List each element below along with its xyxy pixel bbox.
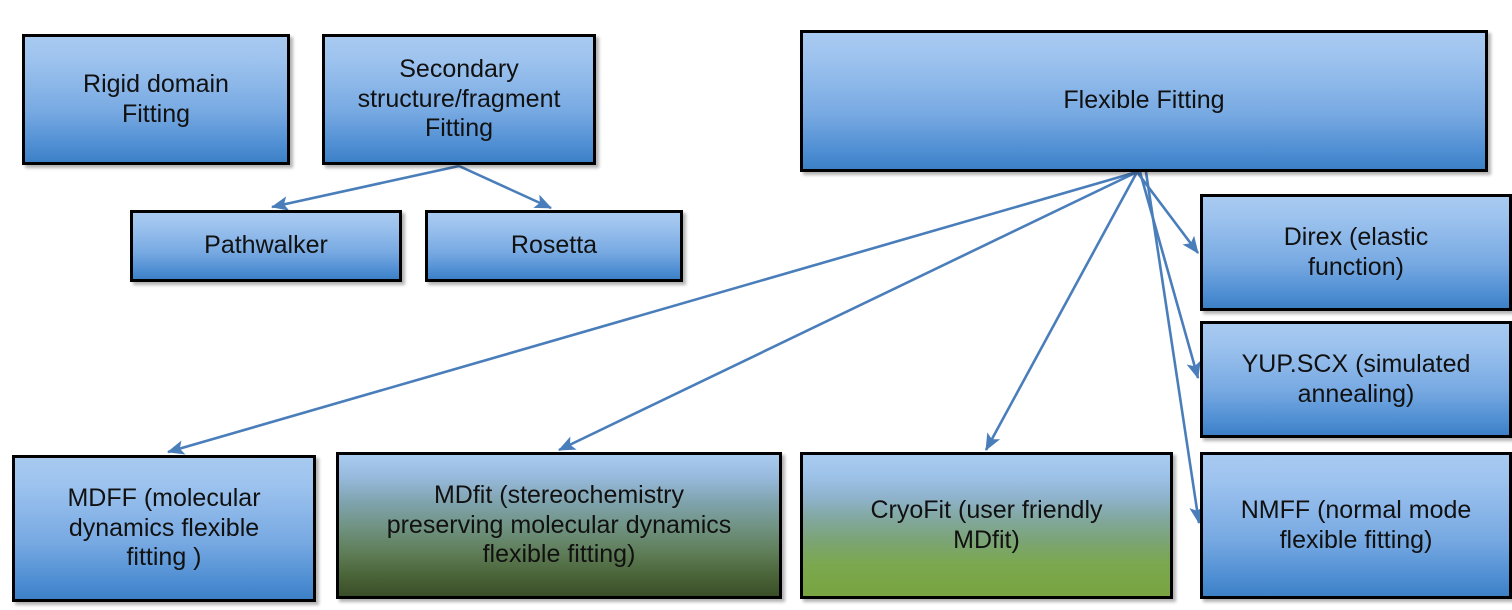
node-direx[interactable]: Direx (elastic function) bbox=[1200, 194, 1512, 311]
diagram-canvas: Rigid domain FittingSecondary structure/… bbox=[0, 0, 1512, 610]
node-label-mdfit: MDfit (stereochemistry preserving molecu… bbox=[349, 481, 769, 570]
node-label-pathwalker: Pathwalker bbox=[143, 231, 389, 261]
node-mdfit[interactable]: MDfit (stereochemistry preserving molecu… bbox=[336, 452, 782, 599]
node-label-nmff: NMFF (normal mode flexible fitting) bbox=[1213, 496, 1499, 555]
edge-secondary-to-pathwalker bbox=[272, 166, 459, 207]
node-label-rosetta: Rosetta bbox=[438, 231, 670, 261]
edge-flexible-to-direx bbox=[1137, 172, 1198, 253]
node-nmff[interactable]: NMFF (normal mode flexible fitting) bbox=[1200, 452, 1512, 599]
node-rigid-domain-fitting[interactable]: Rigid domain Fitting bbox=[22, 34, 290, 165]
edge-flexible-to-cryofit bbox=[986, 172, 1137, 450]
edge-flexible-to-yupscx bbox=[1140, 172, 1198, 378]
node-rosetta[interactable]: Rosetta bbox=[425, 210, 683, 282]
node-secondary-structure-fragment-fitting[interactable]: Secondary structure/fragment Fitting bbox=[322, 34, 596, 165]
node-flexible-fitting[interactable]: Flexible Fitting bbox=[800, 30, 1488, 172]
node-label-mdff: MDFF (molecular dynamics flexible fittin… bbox=[25, 484, 303, 573]
node-pathwalker[interactable]: Pathwalker bbox=[130, 210, 402, 282]
node-label-secondary-structure-fragment-fitting: Secondary structure/fragment Fitting bbox=[335, 55, 583, 144]
node-label-direx: Direx (elastic function) bbox=[1213, 223, 1499, 282]
node-mdff[interactable]: MDFF (molecular dynamics flexible fittin… bbox=[12, 455, 316, 602]
edge-secondary-to-rosetta bbox=[459, 166, 551, 208]
node-label-rigid-domain-fitting: Rigid domain Fitting bbox=[35, 70, 277, 129]
node-cryofit[interactable]: CryoFit (user friendly MDfit) bbox=[800, 452, 1173, 599]
node-label-flexible-fitting: Flexible Fitting bbox=[813, 86, 1475, 116]
node-label-yup-scx: YUP.SCX (simulated annealing) bbox=[1213, 350, 1499, 409]
node-yup-scx[interactable]: YUP.SCX (simulated annealing) bbox=[1200, 321, 1512, 438]
node-label-cryofit: CryoFit (user friendly MDfit) bbox=[813, 496, 1160, 555]
